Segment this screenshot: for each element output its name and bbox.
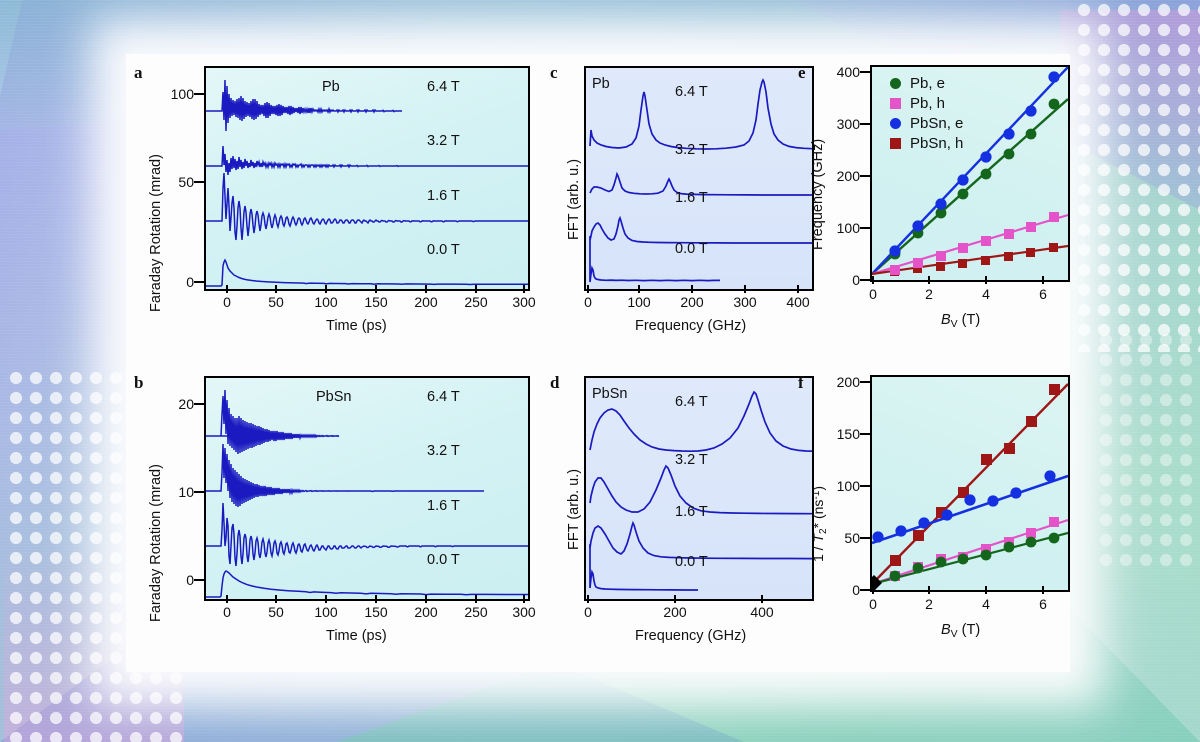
panel-e-fit-pbsn-h [872,246,1068,274]
legend-item-pb-h: Pb, h [890,93,963,113]
panel-e-xlabel-unit: (T) [958,312,981,328]
figure-card: a Faraday Rotation (mrad) 100 50 0 [126,54,1070,672]
legend-item-pbsn-h: PbSn, h [890,133,963,153]
panel-a-trace-6p4T [206,80,402,131]
panel-c-xtick-100: 100 [627,294,650,310]
panel-a-xtick-mark-250 [475,285,477,293]
panel-c-xtick-400: 400 [786,294,809,310]
panel-a-xtick-50: 50 [268,294,284,310]
panel-b-ytick-10: 10 [152,484,194,500]
panel-a-curve-label-0p0T: 0.0 T [427,242,460,258]
legend-label-pb-h: Pb, h [910,95,945,112]
panel-c-xtick-mark-300 [744,285,746,293]
panel-a-xtick-250: 250 [464,294,487,310]
panel-c-curve-label-1p6T: 1.6 T [675,190,708,206]
panel-f-xtick-mark-4 [985,586,987,594]
panel-e-ytick-200: 200 [820,168,860,184]
panel-b-trace-0p0T [206,571,528,597]
panel-b-xtick-300: 300 [512,604,535,620]
panel-b-xtick-mark-0 [226,595,228,603]
legend-marker-pb-e-icon [890,78,901,89]
panel-d-curve-label-6p4T: 6.4 T [675,394,708,410]
panel-f-xtick-mark-2 [928,586,930,594]
panel-a-ytick-100: 100 [152,86,194,102]
panel-a-trace-1p6T [206,173,528,240]
panel-a-xtick-mark-0 [226,285,228,293]
legend-label-pb-e: Pb, e [910,75,945,92]
panel-b-xtick-150: 150 [364,604,387,620]
panel-a-trace-0p0T [206,260,528,286]
panel-d-xtick-mark-0 [587,595,589,603]
panel-e-plot-area: Pb, e Pb, h PbSn, e PbSn, h [870,65,1070,282]
legend-label-pbsn-e: PbSn, e [910,115,963,132]
panel-c-curve-label-0p0T: 0.0 T [675,241,708,257]
panel-e-ytick-100: 100 [820,220,860,236]
panel-a-xtick-mark-50 [275,285,277,293]
panel-b-trace-1p6T [206,503,528,566]
panel-b-curve-label-1p6T: 1.6 T [427,498,460,514]
panel-b-xtick-mark-100 [325,595,327,603]
panel-a-xtick-300: 300 [512,294,535,310]
panel-a-xtick-200: 200 [414,294,437,310]
panel-b-xtick-mark-250 [475,595,477,603]
panel-c-curve-label-6p4T: 6.4 T [675,84,708,100]
panel-e-xlabel-sub: V [951,319,958,330]
panel-b-curve-label-6p4T: 6.4 T [427,389,460,405]
legend-item-pb-e: Pb, e [890,73,963,93]
panel-f-ylabel: 1 / T2* (ns-1) [810,486,829,562]
panel-b-curve-label-3p2T: 3.2 T [427,443,460,459]
panel-f-xlabel-B: B [941,622,951,638]
panel-a-xtick-mark-100 [325,285,327,293]
legend-item-pbsn-e: PbSn, e [890,113,963,133]
panel-f-xlabel-unit: (T) [958,622,981,638]
panel-d-curve-label-1p6T: 1.6 T [675,504,708,520]
panel-b-xtick-mark-300 [523,595,525,603]
panel-b-xtick-50: 50 [268,604,284,620]
panel-d-ylabel: FFT (arb. u.) [566,469,582,550]
panel-f-ytick-0: 0 [820,582,860,598]
panel-a-xtick-100: 100 [314,294,337,310]
legend-marker-pb-h-icon [890,98,901,109]
panel-b-xtick-mark-200 [425,595,427,603]
panel-f-xtick-6: 6 [1039,596,1047,612]
panel-b-ytick-0: 0 [152,572,194,588]
panel-e-xtick-0: 0 [869,286,877,302]
panel-c-xtick-0: 0 [584,294,592,310]
panel-c-xtick-mark-0 [587,285,589,293]
legend-marker-pbsn-h-icon [890,138,901,149]
panel-d-material-label: PbSn [592,386,627,402]
panel-b-xtick-mark-50 [275,595,277,603]
panel-f-fit-pb-e [872,533,1068,584]
panel-d-letter: d [550,373,559,393]
panel-e-ytick-0: 0 [820,272,860,288]
panel-a-xtick-mark-300 [523,285,525,293]
panel-d-xtick-mark-400 [761,595,763,603]
panel-c-trace-1p6T [590,218,812,243]
panel-f-scatter [872,377,1068,590]
panel-d-xtick-400: 400 [750,604,773,620]
panel-e-legend: Pb, e Pb, h PbSn, e PbSn, h [890,73,963,153]
panel-f-xlabel-sub: V [951,629,958,640]
panel-c-xtick-200: 200 [680,294,703,310]
panel-e-xtick-mark-6 [1042,276,1044,284]
panel-c-material-label: Pb [592,76,610,92]
panel-c-xtick-mark-100 [638,285,640,293]
panel-e-xlabel: BV (T) [941,312,980,330]
panel-f-xtick-mark-0 [872,586,874,594]
panel-f-fit-pbsn-h [872,384,1068,584]
panel-a-plot-area [204,66,530,291]
panel-d-xlabel: Frequency (GHz) [635,628,746,644]
panel-a-curve-label-6p4T: 6.4 T [427,79,460,95]
panel-f-xlabel: BV (T) [941,622,980,640]
panel-a-xtick-0: 0 [223,294,231,310]
panel-a-letter: a [134,63,143,83]
panel-d-curve-label-0p0T: 0.0 T [675,554,708,570]
panel-e-xtick-mark-0 [872,276,874,284]
panel-a-xlabel: Time (ps) [326,318,387,334]
panel-c-xtick-300: 300 [733,294,756,310]
panel-a-traces [206,68,528,289]
panel-e-xtick-mark-2 [928,276,930,284]
panel-a-ytick-50: 50 [152,174,194,190]
panel-a-xtick-150: 150 [364,294,387,310]
panel-f-ytick-150: 150 [820,426,860,442]
panel-c-xtick-mark-200 [691,285,693,293]
panel-c-letter: c [550,63,558,83]
panel-f-ytick-100: 100 [820,478,860,494]
panel-b-plot-area [204,376,530,601]
legend-label-pbsn-h: PbSn, h [910,135,963,152]
panel-f-letter: f [798,373,804,393]
panel-b-letter: b [134,373,143,393]
panel-c-xlabel: Frequency (GHz) [635,318,746,334]
panel-b-xlabel: Time (ps) [326,628,387,644]
panel-a-xtick-mark-150 [375,285,377,293]
panel-f-ytick-200: 200 [820,374,860,390]
panel-e-xtick-2: 2 [925,286,933,302]
panel-b-ytick-20: 20 [152,396,194,412]
panel-e-xlabel-B: B [941,312,951,328]
panel-f-ylabel-star: * [810,523,826,528]
panel-b-xtick-250: 250 [464,604,487,620]
panel-b-xtick-0: 0 [223,604,231,620]
panel-a-curve-label-3p2T: 3.2 T [427,133,460,149]
panel-e-xtick-6: 6 [1039,286,1047,302]
panel-b-xtick-200: 200 [414,604,437,620]
panel-b-traces [206,378,528,599]
panel-f-ytick-50: 50 [820,530,860,546]
panel-f-xtick-4: 4 [982,596,990,612]
panel-f-ylabel-post: (ns [810,500,826,523]
panel-f-plot-area [870,375,1070,592]
panel-e-xtick-4: 4 [982,286,990,302]
panel-b-curve-label-0p0T: 0.0 T [427,552,460,568]
panel-b-xtick-100: 100 [314,604,337,620]
panel-d-xtick-0: 0 [584,604,592,620]
legend-marker-pbsn-e-icon [890,118,901,129]
panel-f-xtick-mark-6 [1042,586,1044,594]
panel-a-curve-label-1p6T: 1.6 T [427,188,460,204]
panel-b-material-label: PbSn [316,389,351,405]
panel-c-xtick-mark-400 [797,285,799,293]
panel-d-xtick-mark-200 [674,595,676,603]
panel-a-ytick-0: 0 [152,274,194,290]
panel-b-xtick-mark-150 [375,595,377,603]
panel-f-xtick-0: 0 [869,596,877,612]
figure-canvas: a Faraday Rotation (mrad) 100 50 0 [126,54,1070,672]
panel-e-xtick-mark-4 [985,276,987,284]
panel-c-curve-label-3p2T: 3.2 T [675,142,708,158]
panel-a-xtick-mark-200 [425,285,427,293]
panel-f-xtick-2: 2 [925,596,933,612]
panel-e-ytick-300: 300 [820,116,860,132]
panel-e-letter: e [798,63,806,83]
panel-c-ylabel: FFT (arb. u.) [566,159,582,240]
panel-d-xtick-200: 200 [663,604,686,620]
panel-a-material-label: Pb [322,79,340,95]
panel-d-curve-label-3p2T: 3.2 T [675,452,708,468]
panel-a-trace-3p2T [206,146,528,175]
panel-e-ytick-400: 400 [820,64,860,80]
